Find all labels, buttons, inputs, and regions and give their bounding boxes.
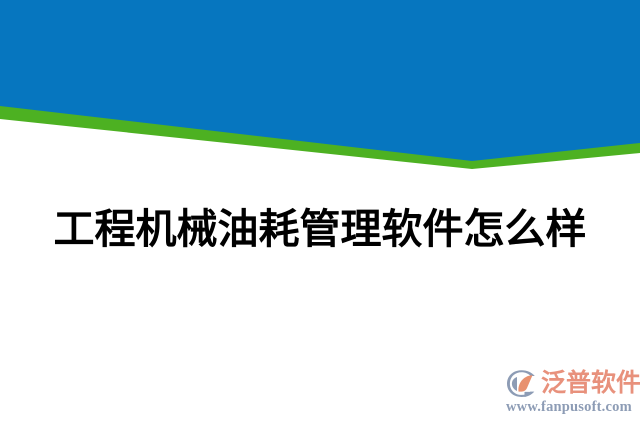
brand-website-url: www.fanpusoft.com <box>506 399 632 415</box>
angled-banner-graphic <box>0 0 640 180</box>
fanpu-swoosh-icon <box>505 368 538 399</box>
page-title: 工程机械油耗管理软件怎么样 <box>0 203 640 255</box>
brand-logo-row: 泛普软件 <box>505 366 640 400</box>
brand-logo: 泛普软件 www.fanpusoft.com <box>505 366 635 418</box>
brand-name-text: 泛普软件 <box>541 369 640 397</box>
article-cover-banner: 工程机械油耗管理软件怎么样 泛普软件 www.fanpusoft.com <box>0 0 640 427</box>
blue-banner-shape <box>0 0 640 161</box>
